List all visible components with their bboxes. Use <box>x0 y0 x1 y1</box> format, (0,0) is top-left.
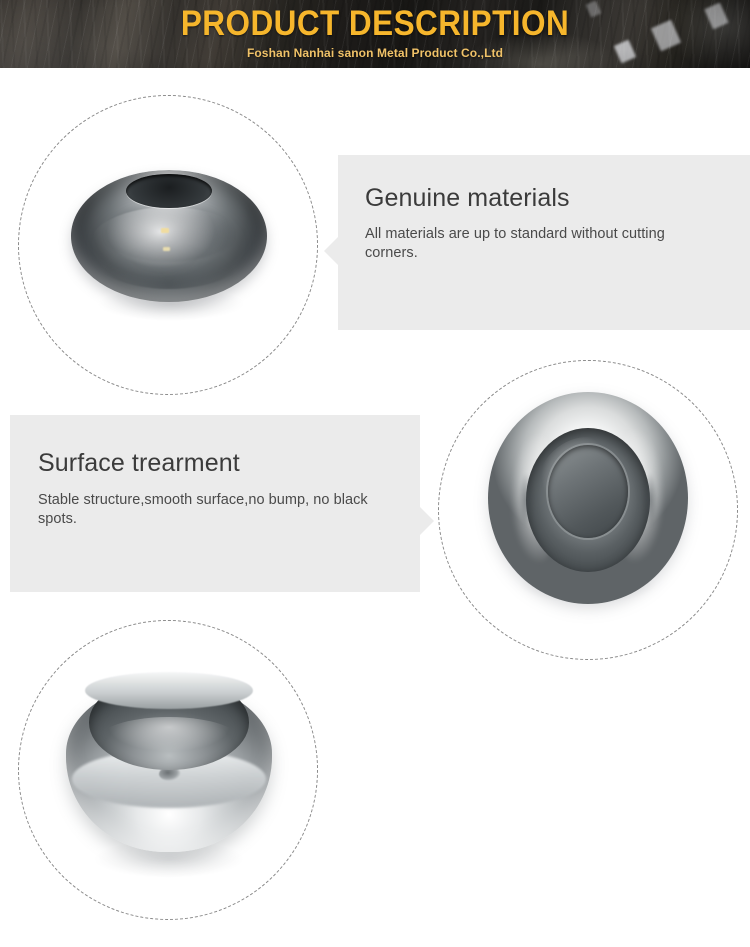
specular-highlight <box>163 247 170 251</box>
feature-card-surface-treatment: Surface trearment Stable structure,smoot… <box>10 415 420 592</box>
page-title: PRODUCT DESCRIPTION <box>38 5 713 43</box>
photo-clip-2 <box>438 360 738 660</box>
stainless-steel-ring-top-view-photo <box>438 360 738 660</box>
donut-ring-render <box>71 170 267 302</box>
feature-body: All materials are up to standard without… <box>365 225 710 263</box>
ring-top-view-render <box>488 392 688 604</box>
hollow-ball-render <box>66 682 272 852</box>
photo-clip-3 <box>18 620 318 920</box>
ball-rim-lip <box>85 672 254 709</box>
header-text-group: PRODUCT DESCRIPTION Foshan Nanhai sanon … <box>0 0 750 68</box>
specular-highlight <box>161 228 169 233</box>
feature-heading: Surface trearment <box>38 448 420 478</box>
company-name-subtitle: Foshan Nanhai sanon Metal Product Co.,Lt… <box>0 46 750 60</box>
photo-clip-1 <box>18 95 318 395</box>
callout-arrow-right-icon <box>420 507 434 535</box>
stainless-steel-hollow-ball-photo <box>18 620 318 920</box>
page-header-banner: PRODUCT DESCRIPTION Foshan Nanhai sanon … <box>0 0 750 68</box>
feature-card-genuine-materials: Genuine materials All materials are up t… <box>338 155 750 330</box>
stainless-steel-donut-ring-photo <box>18 95 318 395</box>
inner-shadow-left <box>516 462 536 538</box>
feature-body: Stable structure,smooth surface,no bump,… <box>38 491 390 529</box>
ring-oval-hole <box>548 445 628 538</box>
inner-shadow-right <box>640 462 660 538</box>
feature-heading: Genuine materials <box>365 183 750 213</box>
ring-center-hole <box>126 174 212 208</box>
callout-arrow-left-icon <box>324 237 338 265</box>
